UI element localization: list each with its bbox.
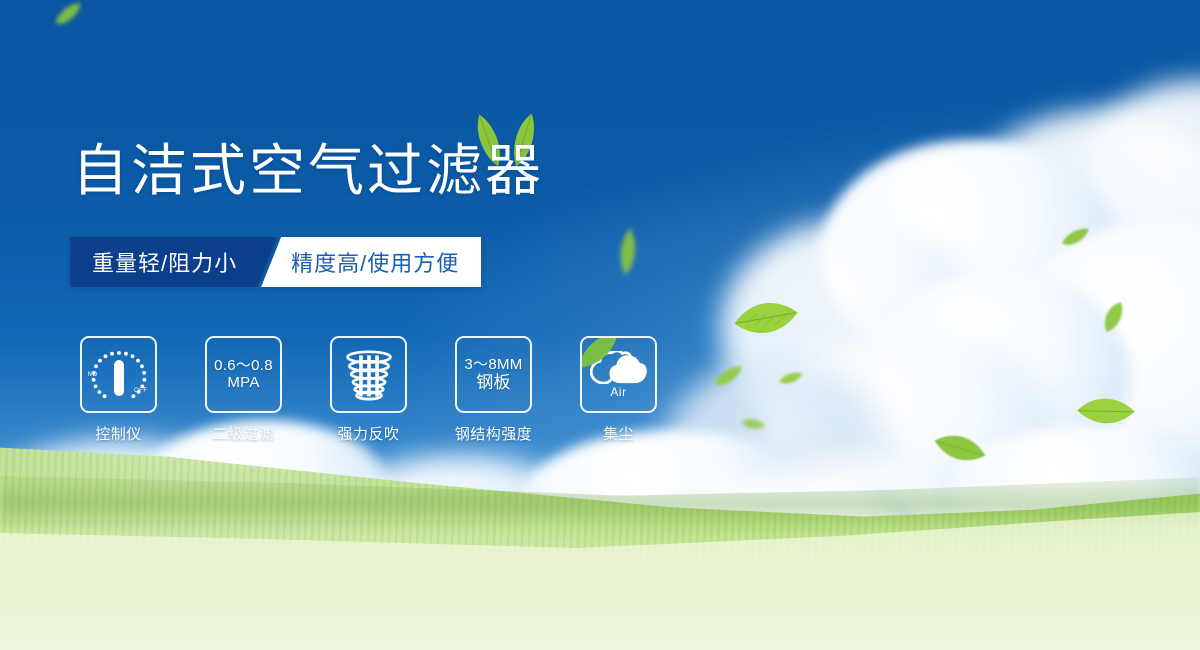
feature-label: 集尘 [603,423,634,444]
pressure-value-line2: MPA [227,375,259,392]
feature-item-pressure[interactable]: 0.6～0.8 MPA 二级过滤 [205,336,282,444]
steel-value-line1: 3～8MM [464,357,522,374]
feature-label: 二级过滤 [212,423,274,444]
feature-label: 钢结构强度 [455,423,533,444]
subtitle-badge-bar: 重量轻/阻力小 精度高/使用方便 [70,237,481,287]
feature-icon-box: Air [580,336,657,413]
feature-item-control-gauge[interactable]: NO OFF 控制仪 [80,336,157,444]
control-gauge-icon: NO OFF [88,346,150,404]
subtitle-right-segment: 精度高/使用方便 [261,237,481,287]
pressure-value-line1: 0.6～0.8 [214,358,273,375]
gauge-label-no: NO [88,372,98,378]
feature-icon-box: 0.6～0.8 MPA [205,336,282,413]
feature-label: 控制仪 [95,423,142,444]
filter-coil-icon [344,348,394,402]
feature-item-steel[interactable]: 3～8MM 钢板 钢结构强度 [455,336,532,444]
feature-item-dust-collection[interactable]: Air 集尘 [580,336,657,444]
feature-icon-box: 3～8MM 钢板 [455,336,532,413]
feature-icon-box [330,336,407,413]
feature-icon-box: NO OFF [80,336,157,413]
leaf-accent-icon [580,336,618,368]
steel-value-line2: 钢板 [476,373,511,392]
product-hero-banner: 自洁式空气过滤器 重量轻/阻力小 精度高/使用方便 [0,0,1200,650]
feature-label: 强力反吹 [337,423,399,444]
gauge-label-off: OFF [134,388,148,394]
air-text-label: Air [610,385,626,399]
feature-item-backblow[interactable]: 强力反吹 [330,336,407,444]
feature-icon-row: NO OFF 控制仪 0.6～0.8 MPA 二级过滤 [80,336,657,444]
subtitle-left-segment: 重量轻/阻力小 [70,237,277,287]
page-title: 自洁式空气过滤器 [72,143,544,199]
